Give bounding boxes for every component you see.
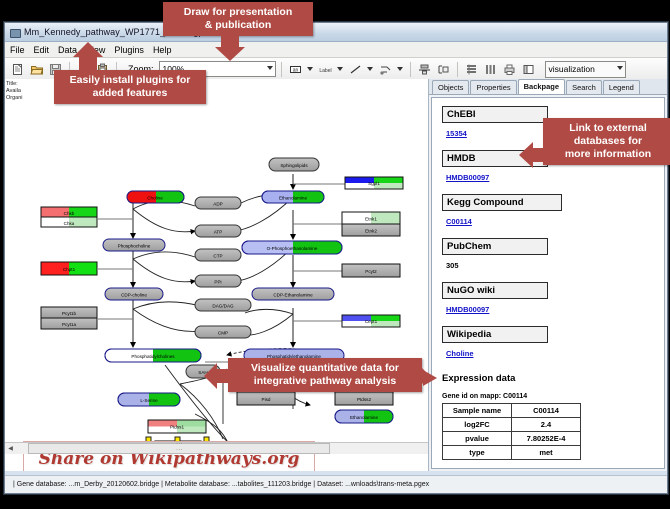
gene-label: Etnk1 (365, 216, 377, 221)
db-header-chebi: ChEBI (442, 106, 548, 123)
chevron-down-icon[interactable] (367, 67, 373, 71)
node-label: ATP (214, 229, 223, 234)
pathway-canvas[interactable]: Title: Availa Organi (5, 79, 429, 471)
gene-chpt1[interactable]: Chpt1 (41, 262, 97, 275)
gene-label: Ptdss1 (170, 425, 184, 430)
node-sphingolipids[interactable]: Sphingolipids (269, 158, 319, 171)
callout-line: integrative pathway analysis (236, 375, 414, 388)
callout-line: more information (551, 148, 665, 161)
gene-chkb[interactable]: Chkb (41, 207, 97, 217)
cell-key: pvalue (443, 432, 512, 446)
node-label: CDP-choline (121, 293, 147, 298)
gene-label: Chka (64, 221, 75, 226)
db-header-pubchem: PubChem (442, 238, 548, 255)
gene-pcyt2[interactable]: Pcyt2 (342, 264, 400, 277)
cell-value: 2.4 (512, 418, 581, 432)
app-icon (9, 27, 20, 38)
scroll-thumb[interactable] (28, 443, 330, 454)
menu-item-plugins[interactable]: Plugins (114, 45, 144, 55)
chevron-down-icon[interactable] (337, 67, 343, 71)
gene-pcyt1b[interactable]: Pcyt1b (41, 307, 97, 318)
gene-label: Ptdss2 (357, 397, 371, 402)
node-label: Choline (147, 196, 163, 201)
toolbar-separator (410, 62, 411, 77)
gene-label: Sgpl1 (368, 181, 380, 186)
order-icon[interactable] (463, 61, 480, 78)
cell-key: type (443, 446, 512, 460)
node-label: O-Phosphoethanolamine (267, 246, 318, 251)
cell-value: C00114 (512, 404, 581, 418)
screenshot-root: Mm_Kennedy_pathway_WP1771_45176.gpml Fil… (0, 0, 670, 509)
tab-search[interactable]: Search (566, 80, 602, 94)
node-label: CMP (218, 330, 228, 335)
svg-text:Label: Label (319, 68, 331, 74)
gene-cept1[interactable]: Cept1 (342, 315, 400, 327)
node-cdp-choline[interactable]: CDP-choline (105, 288, 163, 300)
db-link-chebi[interactable]: 15354 (446, 129, 467, 138)
db-header-nugo: NuGO wiki (442, 282, 548, 299)
gene-ptdss2[interactable]: Ptdss2 (335, 392, 393, 405)
menu-item-edit[interactable]: Edit (34, 45, 50, 55)
callout-links: Link to external databases for more info… (543, 118, 670, 165)
callout-line: & publication (171, 19, 305, 32)
node-label: Ethanolamine (279, 196, 308, 201)
tab-legend[interactable]: Legend (603, 80, 640, 94)
table-row: Sample name C00114 (443, 404, 581, 418)
gene-sgpl1[interactable]: Sgpl1 (345, 177, 403, 189)
db-link-kegg[interactable]: C00114 (446, 217, 472, 226)
callout-links-arrow (519, 140, 547, 170)
label-icon[interactable]: Label (317, 61, 334, 78)
status-bar: | Gene database: ...m_Derby_20120602.bri… (5, 475, 667, 493)
gene-label: Pcyt1a (62, 322, 76, 327)
table-row: type met (443, 446, 581, 460)
node-l-serine-left[interactable]: L-Serine (118, 393, 180, 406)
node-label: L-Serine (140, 398, 158, 403)
cell-value: 7.80252E-4 (512, 432, 581, 446)
callout-visualize-arrow-left (204, 362, 230, 390)
callout-line: added features (62, 87, 198, 100)
gene-label: Pcyt2 (365, 269, 377, 274)
node-ethanolamine-top[interactable]: Ethanolamine (262, 191, 324, 203)
chevron-down-icon[interactable] (307, 67, 313, 71)
node-ethanolamine-bottom[interactable]: Ethanolamine (335, 410, 393, 423)
db-header-kegg: Kegg Compound (442, 194, 562, 211)
node-ppi[interactable]: PPi (195, 275, 241, 287)
visualization-combo[interactable]: visualization (545, 61, 626, 78)
tab-backpage[interactable]: Backpage (518, 79, 565, 94)
chevron-down-icon (617, 66, 623, 70)
db-link-nugo[interactable]: HMDB00097 (446, 305, 489, 314)
node-dagdag[interactable]: DAG/DAG (195, 299, 251, 311)
svg-text:an: an (292, 67, 298, 73)
node-label: Ethanolamine (350, 415, 379, 420)
status-text: | Gene database: ...m_Derby_20120602.bri… (5, 481, 429, 488)
expression-data-heading: Expression data (442, 373, 664, 384)
menu-bar: File Edit Data View Plugins Help (5, 42, 667, 58)
tab-properties[interactable]: Properties (470, 80, 516, 94)
menu-item-file[interactable]: File (10, 45, 25, 55)
scroll-left-arrow[interactable]: ◀ (5, 445, 16, 452)
group-icon[interactable] (435, 61, 452, 78)
table-row: log2FC 2.4 (443, 418, 581, 432)
distribute-icon[interactable] (482, 61, 499, 78)
gene-ptdss1[interactable]: Ptdss1 (148, 420, 206, 433)
callout-line: Easily install plugins for (62, 74, 198, 87)
callout-plugins: Easily install plugins for added feature… (54, 70, 206, 104)
callout-plugins-arrow (73, 42, 103, 72)
gene-etnk2[interactable]: Etnk2 (342, 224, 400, 236)
expression-table: Sample name C00114 log2FC 2.4 pvalue 7.8… (442, 403, 581, 460)
shape-icon[interactable] (377, 61, 394, 78)
menu-item-help[interactable]: Help (153, 45, 172, 55)
node-label: Sphingolipids (280, 163, 308, 168)
open-icon[interactable] (28, 61, 45, 78)
datanode-icon[interactable]: an (287, 61, 304, 78)
node-adp[interactable]: ADP (195, 197, 241, 209)
pathway-diagram[interactable]: Sphingolipids Choline (5, 79, 429, 471)
node-o-phosphoethanolamine[interactable]: O-Phosphoethanolamine (242, 241, 342, 254)
node-label: CDP-Ethanolamine (273, 293, 313, 298)
node-phosphatidylcholines[interactable]: Phosphatidylcholines (105, 349, 201, 362)
node-label: Phosphatidylcholines (131, 354, 175, 359)
toolbar-separator (281, 62, 282, 77)
node-atp[interactable]: ATP (195, 225, 241, 237)
node-cdp-ethanolamine[interactable]: CDP-Ethanolamine (252, 288, 334, 300)
side-panel-tabs: Objects Properties Backpage Search Legen… (429, 79, 667, 95)
gene-etnk1[interactable]: Etnk1 (342, 212, 400, 224)
toolbar-separator (457, 62, 458, 77)
new-icon[interactable] (9, 61, 26, 78)
db-header-wikipedia: Wikipedia (442, 326, 548, 343)
gene-label: Cept1 (365, 319, 378, 324)
tab-objects[interactable]: Objects (432, 80, 469, 94)
gene-label: Chpt1 (63, 267, 76, 272)
db-link-wikipedia[interactable]: Choline (446, 349, 474, 358)
callout-draw-arrow (215, 34, 245, 62)
line-icon[interactable] (347, 61, 364, 78)
cell-value: met (512, 446, 581, 460)
panel-icon[interactable] (520, 61, 537, 78)
gene-pcyt1a[interactable]: Pcyt1a (41, 318, 97, 329)
print-icon[interactable] (501, 61, 518, 78)
node-phosphocholine[interactable]: Phosphocholine (103, 239, 165, 251)
align-icon[interactable] (416, 61, 433, 78)
node-label: Phosphocholine (118, 244, 151, 249)
canvas-hscrollbar[interactable]: ◀ (5, 442, 429, 454)
chevron-down-icon[interactable] (397, 67, 403, 71)
db-link-hmdb[interactable]: HMDB00097 (446, 173, 489, 182)
gene-label: Pisd (262, 397, 271, 402)
node-choline-top[interactable]: Choline (127, 191, 184, 203)
cell-key: log2FC (443, 418, 512, 432)
gene-label: Etnk2 (365, 228, 377, 233)
node-label: DAG/DAG (212, 303, 234, 308)
callout-line: Visualize quantitative data for (236, 362, 414, 375)
callout-line: Draw for presentation (171, 6, 305, 19)
gene-pisd[interactable]: Pisd (237, 392, 295, 405)
gene-label: Chkb (64, 211, 75, 216)
callout-expression-arrow (423, 370, 437, 386)
visualization-value: visualization (549, 64, 595, 74)
node-label: ADP (213, 201, 222, 206)
callout-visualize: Visualize quantitative data for integrat… (228, 358, 422, 392)
callout-line: Link to external (551, 122, 665, 135)
node-ctp[interactable]: CTP (195, 249, 241, 261)
db-value-pubchem: 305 (446, 261, 459, 270)
title-bar: Mm_Kennedy_pathway_WP1771_45176.gpml (5, 23, 667, 42)
gene-id-label: Gene id on mapp: C00114 (442, 393, 664, 400)
callout-draw: Draw for presentation & publication (163, 2, 313, 36)
gene-chka[interactable]: Chka (41, 217, 97, 227)
node-label: CTP (213, 253, 222, 258)
chevron-down-icon (267, 66, 273, 70)
cell-key: Sample name (443, 404, 512, 418)
node-label: PPi (214, 279, 221, 284)
gene-label: Pcyt1b (62, 311, 76, 316)
node-cmp[interactable]: CMP (195, 326, 251, 338)
callout-line: databases for (551, 135, 665, 148)
table-row: pvalue 7.80252E-4 (443, 432, 581, 446)
